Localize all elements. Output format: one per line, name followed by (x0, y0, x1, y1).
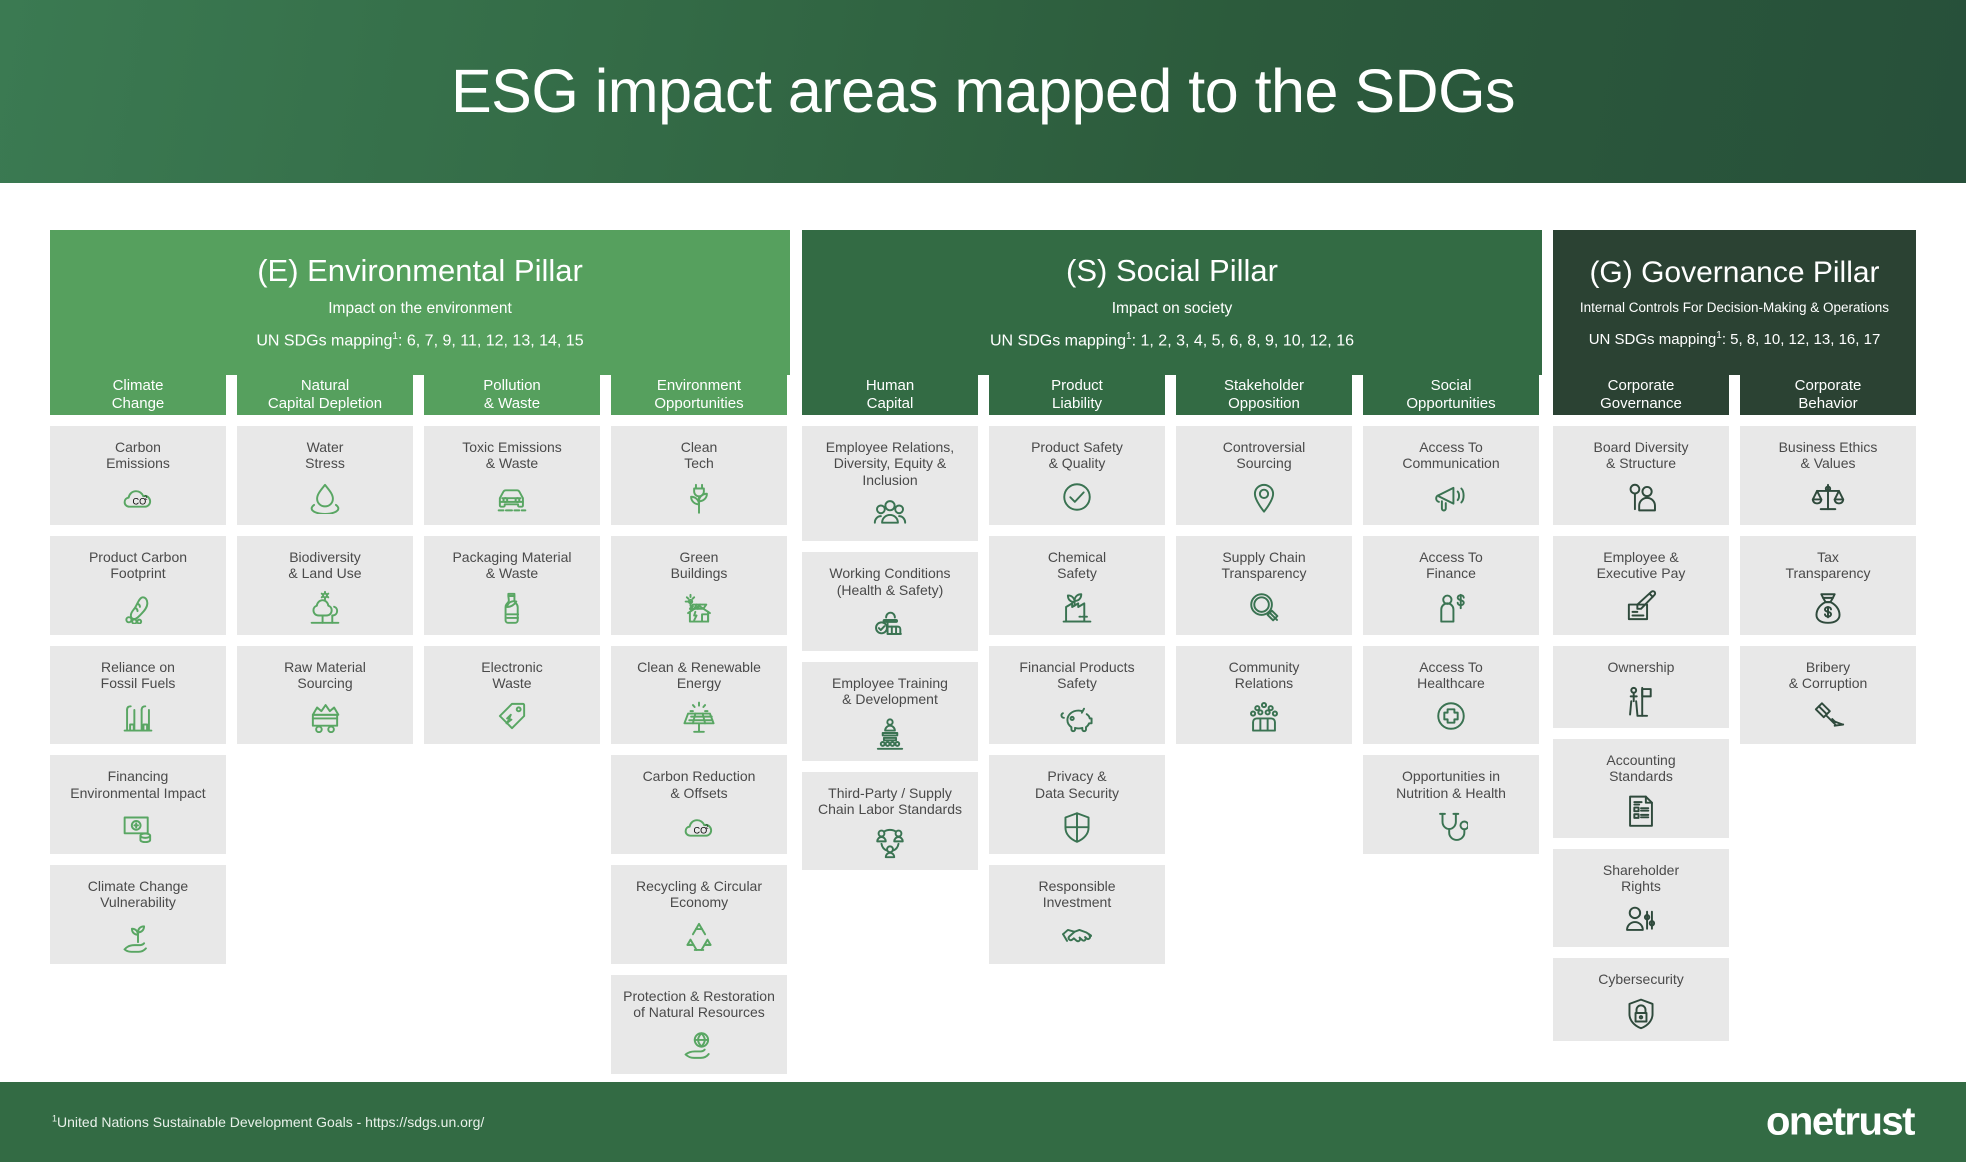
handshake-icon (1060, 916, 1094, 956)
magnifier-icon (1247, 587, 1281, 627)
impact-area-label: Employee Training & Development (832, 675, 948, 708)
impact-area-label: Working Conditions (Health & Safety) (829, 565, 950, 598)
column-header: SocialOpportunities (1363, 375, 1539, 415)
impact-area-card[interactable]: Reliance on Fossil Fuels (50, 646, 226, 745)
impact-area-label: Responsible Investment (1038, 878, 1115, 911)
person-dollar-icon (1434, 587, 1468, 627)
impact-area-card[interactable]: Chemical Safety (989, 536, 1165, 635)
impact-area-card[interactable]: Climate Change Vulnerability (50, 865, 226, 964)
factory-icon (121, 696, 155, 736)
impact-area-card[interactable]: Financial Products Safety (989, 646, 1165, 745)
impact-area-label: Green Buildings (671, 549, 728, 582)
impact-area-label: Chemical Safety (1048, 549, 1106, 582)
impact-area-label: Biodiversity & Land Use (288, 549, 361, 582)
impact-area-card[interactable]: Privacy & Data Security (989, 755, 1165, 854)
impact-area-label: Privacy & Data Security (1035, 768, 1119, 801)
column-header-line: Capital Depletion (268, 395, 382, 413)
column-social-3: StakeholderOppositionControversial Sourc… (1176, 375, 1352, 755)
column-header-line: Natural (301, 377, 349, 395)
piggy-bank-icon (1060, 696, 1094, 736)
impact-area-card[interactable]: Packaging Material & Waste (424, 536, 600, 635)
impact-area-label: Shareholder Rights (1603, 862, 1679, 895)
scales-icon (1811, 477, 1845, 517)
impact-area-card[interactable]: Green Buildings (611, 536, 787, 635)
impact-area-label: Carbon Reduction & Offsets (643, 768, 756, 801)
impact-area-label: Business Ethics & Values (1779, 439, 1878, 472)
column-header-line: Opportunities (1406, 395, 1495, 413)
footnote: 1United Nations Sustainable Development … (52, 1113, 484, 1130)
pillar-header-environmental: (E) Environmental PillarImpact on the en… (50, 230, 790, 375)
impact-area-label: Tax Transparency (1785, 549, 1870, 582)
impact-area-label: Financing Environmental Impact (70, 768, 205, 801)
impact-area-label: Carbon Emissions (106, 439, 170, 472)
infographic-page: ESG impact areas mapped to the SDGs (E) … (0, 0, 1966, 1162)
onetrust-logo: onetrust (1766, 1100, 1914, 1145)
column-header-line: Behavior (1798, 395, 1857, 413)
impact-area-label: Employee & Executive Pay (1597, 549, 1686, 582)
training-podium-icon (873, 713, 907, 753)
impact-area-label: Product Carbon Footprint (89, 549, 187, 582)
impact-area-label: Employee Relations, Diversity, Equity & … (808, 439, 972, 488)
impact-area-label: Access To Finance (1419, 549, 1483, 582)
column-header: ClimateChange (50, 375, 226, 415)
bottle-leaf-icon (495, 587, 529, 627)
plug-plant-icon (682, 477, 716, 517)
column-grid: ClimateChangeCarbon EmissionsCO2Product … (50, 375, 1916, 1065)
impact-area-card[interactable]: Opportunities in Nutrition & Health (1363, 755, 1539, 854)
column-header-line: Pollution (483, 377, 541, 395)
pillar-subtitle: Impact on society (1112, 300, 1233, 317)
impact-area-label: Raw Material Sourcing (284, 659, 366, 692)
column-header-line: Environment (657, 377, 741, 395)
person-sliders-icon (1624, 899, 1658, 939)
column-header-line: Climate (113, 377, 164, 395)
impact-area-label: Board Diversity & Structure (1594, 439, 1689, 472)
column-header: StakeholderOpposition (1176, 375, 1352, 415)
pillar-title: (E) Environmental Pillar (257, 255, 583, 288)
hand-globe-icon (682, 1026, 716, 1066)
impact-area-label: Access To Healthcare (1417, 659, 1485, 692)
gavel-icon (1811, 696, 1845, 736)
column-header-line: Governance (1600, 395, 1682, 413)
impact-area-card[interactable]: Carbon Reduction & OffsetsCO2 (611, 755, 787, 854)
page-title: ESG impact areas mapped to the SDGs (451, 61, 1515, 122)
impact-area-card[interactable]: Electronic Waste (424, 646, 600, 745)
impact-area-card[interactable]: Accounting Standards (1553, 739, 1729, 838)
column-header: EnvironmentOpportunities (611, 375, 787, 415)
impact-area-card[interactable]: Access To Communication (1363, 426, 1539, 525)
impact-area-card[interactable]: Raw Material Sourcing (237, 646, 413, 745)
person-flag-icon (1624, 680, 1658, 720)
column-header-line: Liability (1052, 395, 1102, 413)
impact-area-label: Supply Chain Transparency (1221, 549, 1306, 582)
check-circle-icon (1060, 477, 1094, 517)
impact-area-card[interactable]: Product Safety & Quality (989, 426, 1165, 525)
pillar-subtitle: Impact on the environment (328, 300, 512, 317)
pillars-board: (E) Environmental PillarImpact on the en… (0, 183, 1966, 1079)
page-footer: 1United Nations Sustainable Development … (0, 1079, 1966, 1162)
impact-area-card[interactable]: Responsible Investment (989, 865, 1165, 964)
sdg-footnote-marker: 1 (1126, 331, 1132, 342)
column-governance-1: CorporateGovernanceBoard Diversity & Str… (1553, 375, 1729, 1052)
pillar-title: (G) Governance Pillar (1589, 257, 1879, 289)
pillar-header-row: (E) Environmental PillarImpact on the en… (50, 230, 1916, 375)
pillar-sdg-mapping: UN SDGs mapping1: 5, 8, 10, 12, 13, 16, … (1589, 330, 1881, 349)
impact-area-label: Accounting Standards (1606, 752, 1675, 785)
medical-cross-icon (1434, 696, 1468, 736)
impact-area-label: Toxic Emissions & Waste (462, 439, 562, 472)
column-social-4: SocialOpportunitiesAccess To Communicati… (1363, 375, 1539, 865)
impact-area-card[interactable]: Product Carbon Footprint (50, 536, 226, 635)
impact-area-label: Bribery & Corruption (1789, 659, 1868, 692)
money-bag-icon (1811, 587, 1845, 627)
impact-area-card[interactable]: Board Diversity & Structure (1553, 426, 1729, 525)
impact-area-card[interactable]: Toxic Emissions & Waste (424, 426, 600, 525)
impact-area-label: Opportunities in Nutrition & Health (1396, 768, 1506, 801)
column-governance-2: CorporateBehaviorBusiness Ethics & Value… (1740, 375, 1916, 755)
column-header-line: Product (1051, 377, 1103, 395)
impact-area-label: Controversial Sourcing (1223, 439, 1305, 472)
impact-area-label: Financial Products Safety (1019, 659, 1134, 692)
impact-area-card[interactable]: Working Conditions (Health & Safety) (802, 552, 978, 651)
solar-house-icon (682, 587, 716, 627)
impact-area-label: Product Safety & Quality (1031, 439, 1123, 472)
impact-area-card[interactable]: Business Ethics & Values (1740, 426, 1916, 525)
water-drop-icon (308, 477, 342, 517)
column-header: NaturalCapital Depletion (237, 375, 413, 415)
pillar-header-social: (S) Social PillarImpact on societyUN SDG… (802, 230, 1542, 375)
pillar-title: (S) Social Pillar (1066, 255, 1278, 288)
sdg-footnote-marker: 1 (392, 331, 398, 342)
impact-area-card[interactable]: Carbon EmissionsCO2 (50, 426, 226, 525)
impact-area-label: Packaging Material & Waste (452, 549, 571, 582)
mining-cart-icon (308, 696, 342, 736)
solar-panel-icon (682, 696, 716, 736)
impact-area-card[interactable]: Water Stress (237, 426, 413, 525)
impact-area-label: Electronic Waste (481, 659, 542, 692)
car-emissions-icon (495, 477, 529, 517)
two-people-icon (1624, 477, 1658, 517)
megaphone-icon (1434, 477, 1468, 517)
impact-area-card[interactable]: Third-Party / Supply Chain Labor Standar… (802, 772, 978, 871)
impact-area-label: Recycling & Circular Economy (636, 878, 762, 911)
impact-area-label: Climate Change Vulnerability (88, 878, 188, 911)
worker-helmet-icon (873, 603, 907, 643)
people-group-icon (873, 493, 907, 533)
footnote-text: United Nations Sustainable Development G… (57, 1114, 484, 1130)
green-factory-icon (1060, 587, 1094, 627)
impact-area-card[interactable]: Financing Environmental Impact (50, 755, 226, 854)
impact-area-card[interactable]: Employee & Executive Pay (1553, 536, 1729, 635)
column-header: Pollution& Waste (424, 375, 600, 415)
impact-area-card[interactable]: Employee Training & Development (802, 662, 978, 761)
column-header-line: Capital (867, 395, 914, 413)
impact-area-card[interactable]: Access To Finance (1363, 536, 1539, 635)
sdg-footnote-marker: 1 (1716, 330, 1722, 341)
impact-area-card[interactable]: Ownership (1553, 646, 1729, 728)
column-header-line: Corporate (1608, 377, 1675, 395)
hand-sprout-icon (121, 916, 155, 956)
community-icon (1247, 696, 1281, 736)
column-social-1: HumanCapitalEmployee Relations, Diversit… (802, 375, 978, 881)
pillar-sdg-mapping: UN SDGs mapping1: 6, 7, 9, 11, 12, 13, 1… (256, 331, 583, 350)
co2-cloud-icon: CO2 (682, 806, 716, 846)
shield-lock-icon (1624, 993, 1658, 1033)
impact-area-card[interactable]: Clean Tech (611, 426, 787, 525)
money-gear-icon (121, 806, 155, 846)
impact-area-label: Access To Communication (1402, 439, 1499, 472)
page-masthead: ESG impact areas mapped to the SDGs (0, 0, 1966, 183)
pillar-header-governance: (G) Governance PillarInternal Controls F… (1553, 230, 1916, 375)
impact-area-card[interactable]: Recycling & Circular Economy (611, 865, 787, 964)
impact-area-card[interactable]: Tax Transparency (1740, 536, 1916, 635)
impact-area-card[interactable]: Employee Relations, Diversity, Equity & … (802, 426, 978, 541)
impact-area-label: Clean Tech (681, 439, 718, 472)
impact-area-card[interactable]: Cybersecurity (1553, 958, 1729, 1040)
column-environmental-3: Pollution& WasteToxic Emissions & WasteP… (424, 375, 600, 755)
column-header-line: Corporate (1795, 377, 1862, 395)
trees-icon (308, 587, 342, 627)
column-header-line: Human (866, 377, 914, 395)
impact-area-card[interactable]: Bribery & Corruption (1740, 646, 1916, 745)
pillar-sdg-mapping: UN SDGs mapping1: 1, 2, 3, 4, 5, 6, 8, 9… (990, 331, 1354, 350)
impact-area-label: Protection & Restoration of Natural Reso… (623, 988, 775, 1021)
impact-area-card[interactable]: Community Relations (1176, 646, 1352, 745)
column-header: CorporateBehavior (1740, 375, 1916, 415)
impact-area-label: Third-Party / Supply Chain Labor Standar… (818, 785, 962, 818)
impact-area-label: Water Stress (305, 439, 345, 472)
impact-area-card[interactable]: Supply Chain Transparency (1176, 536, 1352, 635)
impact-area-card[interactable]: Protection & Restoration of Natural Reso… (611, 975, 787, 1074)
co2-cloud-icon: CO2 (121, 477, 155, 517)
people-network-icon (873, 822, 907, 862)
column-header-line: & Waste (484, 395, 540, 413)
column-social-2: ProductLiabilityProduct Safety & Quality… (989, 375, 1165, 975)
impact-area-label: Cybersecurity (1598, 971, 1684, 987)
column-header: CorporateGovernance (1553, 375, 1729, 415)
column-header: ProductLiability (989, 375, 1165, 415)
impact-area-card[interactable]: Shareholder Rights (1553, 849, 1729, 948)
column-header-line: Stakeholder (1224, 377, 1304, 395)
column-header-line: Opposition (1228, 395, 1300, 413)
footprint-icon (121, 587, 155, 627)
column-header: HumanCapital (802, 375, 978, 415)
stethoscope-icon (1434, 806, 1468, 846)
document-list-icon (1624, 790, 1658, 830)
impact-area-label: Clean & Renewable Energy (637, 659, 761, 692)
impact-area-card[interactable]: Biodiversity & Land Use (237, 536, 413, 635)
column-header-line: Change (112, 395, 165, 413)
impact-area-card[interactable]: Clean & Renewable Energy (611, 646, 787, 745)
pillar-subtitle: Internal Controls For Decision-Making & … (1580, 301, 1889, 316)
location-pin-icon (1247, 477, 1281, 517)
column-environmental-2: NaturalCapital DepletionWater StressBiod… (237, 375, 413, 755)
column-header-line: Opportunities (654, 395, 743, 413)
recycling-icon (682, 916, 716, 956)
impact-area-label: Ownership (1608, 659, 1675, 675)
column-environmental-4: EnvironmentOpportunitiesClean TechGreen … (611, 375, 787, 1162)
column-environmental-1: ClimateChangeCarbon EmissionsCO2Product … (50, 375, 226, 975)
impact-area-card[interactable]: Access To Healthcare (1363, 646, 1539, 745)
impact-area-label: Community Relations (1229, 659, 1300, 692)
impact-area-label: Reliance on Fossil Fuels (101, 659, 176, 692)
cheque-pen-icon (1624, 587, 1658, 627)
shield-icon (1060, 806, 1094, 846)
impact-area-card[interactable]: Controversial Sourcing (1176, 426, 1352, 525)
column-header-line: Social (1431, 377, 1472, 395)
e-waste-tag-icon (495, 696, 529, 736)
